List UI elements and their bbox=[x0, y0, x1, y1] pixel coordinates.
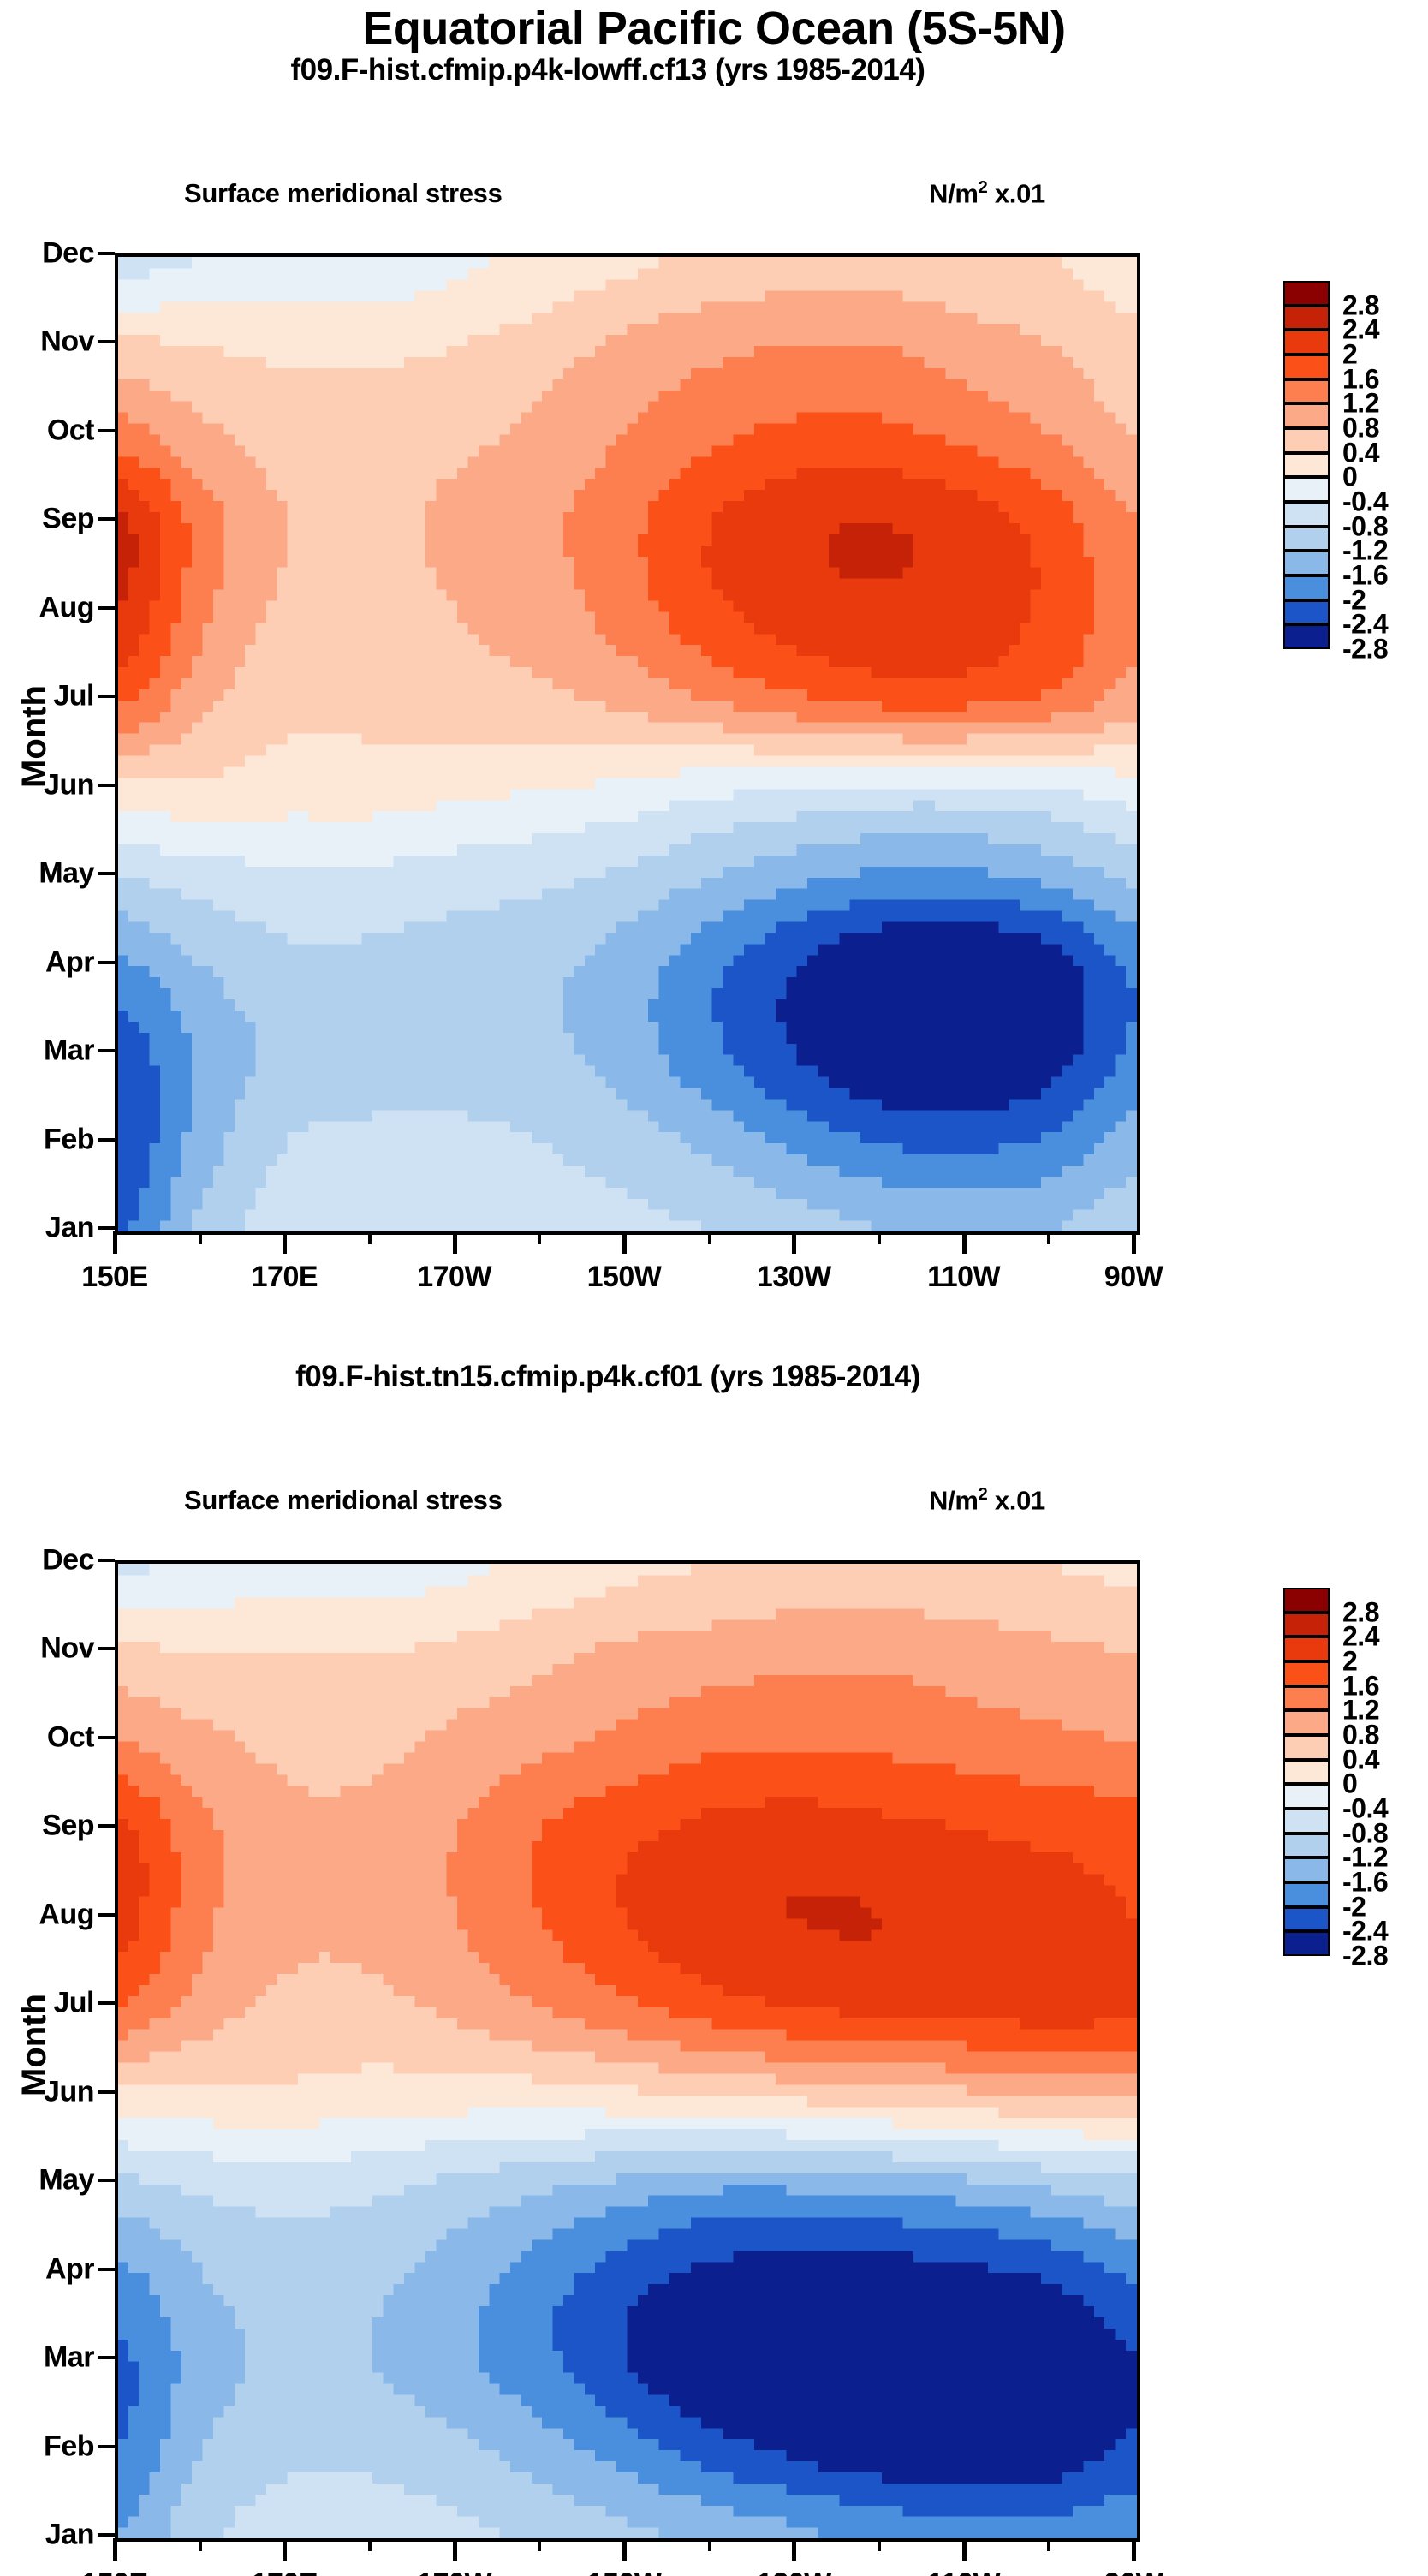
colorbar-swatch bbox=[1283, 281, 1330, 306]
colorbar-swatch bbox=[1283, 1882, 1330, 1907]
y-tick-label: May bbox=[0, 857, 94, 891]
colorbar-swatch bbox=[1283, 355, 1330, 379]
colorbar-swatch bbox=[1283, 1809, 1330, 1834]
y-axis-tick bbox=[98, 1226, 115, 1230]
y-tick-label: Nov bbox=[0, 325, 94, 359]
x-axis-minor-tick bbox=[1047, 2538, 1050, 2551]
y-axis-tick bbox=[98, 2356, 115, 2359]
y-axis-tick bbox=[98, 252, 115, 255]
x-axis-minor-tick bbox=[538, 1231, 541, 1244]
y-axis-tick bbox=[98, 961, 115, 964]
x-axis-minor-tick bbox=[199, 2538, 202, 2551]
y-tick-label: Jul bbox=[0, 680, 94, 713]
x-axis-tick bbox=[453, 2538, 457, 2561]
y-axis-tick bbox=[98, 695, 115, 698]
colorbar-swatch bbox=[1283, 1907, 1330, 1932]
colorbar-tick-label: -2.8 bbox=[1342, 634, 1388, 665]
contour-plot bbox=[115, 253, 1140, 1235]
y-tick-label: Feb bbox=[0, 2430, 94, 2463]
x-axis-minor-tick bbox=[199, 1231, 202, 1244]
colorbar bbox=[1283, 281, 1330, 649]
y-tick-label: May bbox=[0, 2164, 94, 2197]
x-tick-label: 130W bbox=[717, 2567, 871, 2576]
y-tick-label: Jun bbox=[0, 2075, 94, 2108]
units-text: N/m bbox=[929, 178, 979, 208]
colorbar-swatch bbox=[1283, 379, 1330, 404]
y-axis-tick bbox=[98, 872, 115, 875]
figure-root: Equatorial Pacific Ocean (5S-5N) f09.F-h… bbox=[0, 0, 1428, 2576]
y-tick-label: Apr bbox=[0, 945, 94, 979]
y-tick-label: Mar bbox=[0, 1035, 94, 1068]
colorbar-swatch bbox=[1283, 624, 1330, 649]
colorbar-swatch bbox=[1283, 1686, 1330, 1711]
units-exponent: 2 bbox=[979, 1485, 988, 1504]
x-tick-label: 110W bbox=[887, 1261, 1041, 1294]
x-axis-tick bbox=[962, 2538, 967, 2561]
x-tick-label: 130W bbox=[717, 1261, 871, 1294]
colorbar-swatch bbox=[1283, 1588, 1330, 1613]
y-axis-tick bbox=[98, 2268, 115, 2271]
panel-title: f09.F-hist.cfmip.p4k-lowff.cf13 (yrs 198… bbox=[0, 53, 1216, 87]
colorbar-tick-label: -2.8 bbox=[1342, 1941, 1388, 1972]
colorbar-swatch bbox=[1283, 477, 1330, 502]
y-tick-label: Feb bbox=[0, 1123, 94, 1156]
field-label: Surface meridional stress bbox=[184, 1485, 503, 1516]
y-axis-tick bbox=[98, 1913, 115, 1917]
units-label: N/m2 x.01 bbox=[929, 1485, 1045, 1516]
colorbar-swatch bbox=[1283, 502, 1330, 527]
x-axis-tick bbox=[1132, 1231, 1136, 1254]
colorbar-swatch bbox=[1283, 1931, 1330, 1956]
y-tick-label: Jun bbox=[0, 768, 94, 802]
x-tick-label: 90W bbox=[1056, 2567, 1211, 2576]
y-axis-tick bbox=[98, 1824, 115, 1828]
colorbar-swatch bbox=[1283, 575, 1330, 600]
y-axis-tick bbox=[98, 517, 115, 521]
y-tick-label: Sep bbox=[0, 503, 94, 536]
y-tick-label: Jan bbox=[0, 1212, 94, 1245]
y-tick-label: Nov bbox=[0, 1632, 94, 1666]
y-tick-label: Dec bbox=[0, 237, 94, 271]
x-axis-tick bbox=[453, 1231, 457, 1254]
panel-title: f09.F-hist.tn15.cfmip.p4k.cf01 (yrs 1985… bbox=[0, 1360, 1216, 1394]
y-tick-label: Aug bbox=[0, 1898, 94, 1931]
x-axis-tick bbox=[792, 2538, 796, 2561]
colorbar-swatch bbox=[1283, 600, 1330, 625]
units-text: N/m bbox=[929, 1485, 979, 1515]
x-axis-minor-tick bbox=[368, 1231, 372, 1244]
x-axis-minor-tick bbox=[878, 2538, 881, 2551]
y-axis-tick bbox=[98, 2090, 115, 2094]
y-axis-tick bbox=[98, 1736, 115, 1739]
x-tick-label: 170E bbox=[207, 2567, 361, 2576]
contour-field bbox=[118, 1564, 1137, 2538]
colorbar-swatch bbox=[1283, 1637, 1330, 1661]
x-axis-tick bbox=[283, 1231, 287, 1254]
x-axis-tick bbox=[1132, 2538, 1136, 2561]
colorbar-swatch bbox=[1283, 330, 1330, 355]
y-axis-tick bbox=[98, 784, 115, 787]
y-axis-tick bbox=[98, 340, 115, 343]
y-tick-label: Oct bbox=[0, 1720, 94, 1754]
x-axis-minor-tick bbox=[878, 1231, 881, 1244]
y-tick-label: Apr bbox=[0, 2252, 94, 2286]
x-axis-minor-tick bbox=[1047, 1231, 1050, 1244]
colorbar-swatch bbox=[1283, 527, 1330, 552]
y-tick-label: Aug bbox=[0, 591, 94, 624]
y-tick-label: Dec bbox=[0, 1544, 94, 1577]
units-exponent: 2 bbox=[979, 178, 988, 197]
colorbar-swatch bbox=[1283, 1710, 1330, 1735]
x-tick-label: 150W bbox=[547, 1261, 701, 1294]
y-axis-tick bbox=[98, 1647, 115, 1650]
x-tick-label: 170E bbox=[207, 1261, 361, 1294]
colorbar-swatch bbox=[1283, 306, 1330, 331]
x-tick-label: 150W bbox=[547, 2567, 701, 2576]
x-axis-minor-tick bbox=[708, 2538, 711, 2551]
x-axis-tick bbox=[792, 1231, 796, 1254]
contour-field bbox=[118, 257, 1137, 1231]
colorbar-swatch bbox=[1283, 551, 1330, 575]
field-label: Surface meridional stress bbox=[184, 178, 503, 209]
y-tick-label: Sep bbox=[0, 1810, 94, 1843]
y-tick-label: Mar bbox=[0, 2341, 94, 2375]
x-axis-minor-tick bbox=[368, 2538, 372, 2551]
y-axis-tick bbox=[98, 2001, 115, 2005]
y-axis-tick bbox=[98, 2533, 115, 2537]
units-scale: x.01 bbox=[988, 1485, 1045, 1515]
x-tick-label: 170W bbox=[378, 2567, 532, 2576]
colorbar-swatch bbox=[1283, 1760, 1330, 1785]
x-axis-tick bbox=[622, 1231, 627, 1254]
contour-plot bbox=[115, 1560, 1140, 2542]
x-axis-tick bbox=[113, 1231, 117, 1254]
y-tick-label: Jan bbox=[0, 2519, 94, 2552]
y-axis-tick bbox=[98, 1559, 115, 1562]
colorbar-swatch bbox=[1283, 1784, 1330, 1809]
x-tick-label: 110W bbox=[887, 2567, 1041, 2576]
x-axis-tick bbox=[622, 2538, 627, 2561]
x-tick-label: 150E bbox=[38, 2567, 192, 2576]
x-axis-tick bbox=[113, 2538, 117, 2561]
colorbar-swatch bbox=[1283, 1857, 1330, 1882]
colorbar-swatch bbox=[1283, 1613, 1330, 1637]
y-axis-tick bbox=[98, 2179, 115, 2182]
colorbar-swatch bbox=[1283, 403, 1330, 428]
y-tick-label: Jul bbox=[0, 1987, 94, 2020]
units-scale: x.01 bbox=[988, 178, 1045, 208]
y-axis-tick bbox=[98, 1138, 115, 1142]
colorbar-swatch bbox=[1283, 453, 1330, 478]
x-axis-minor-tick bbox=[708, 1231, 711, 1244]
x-axis-minor-tick bbox=[538, 2538, 541, 2551]
colorbar-swatch bbox=[1283, 428, 1330, 453]
colorbar-swatch bbox=[1283, 1735, 1330, 1760]
x-tick-label: 90W bbox=[1056, 1261, 1211, 1294]
y-axis-tick bbox=[98, 1049, 115, 1052]
x-axis-tick bbox=[283, 2538, 287, 2561]
units-label: N/m2 x.01 bbox=[929, 178, 1045, 209]
y-axis-tick bbox=[98, 606, 115, 610]
x-tick-label: 150E bbox=[38, 1261, 192, 1294]
x-tick-label: 170W bbox=[378, 1261, 532, 1294]
y-axis-tick bbox=[98, 2445, 115, 2448]
y-tick-label: Oct bbox=[0, 414, 94, 447]
colorbar-swatch bbox=[1283, 1834, 1330, 1858]
colorbar-swatch bbox=[1283, 1661, 1330, 1686]
main-title: Equatorial Pacific Ocean (5S-5N) bbox=[0, 2, 1428, 55]
x-axis-tick bbox=[962, 1231, 967, 1254]
colorbar bbox=[1283, 1588, 1330, 1956]
y-axis-tick bbox=[98, 429, 115, 432]
